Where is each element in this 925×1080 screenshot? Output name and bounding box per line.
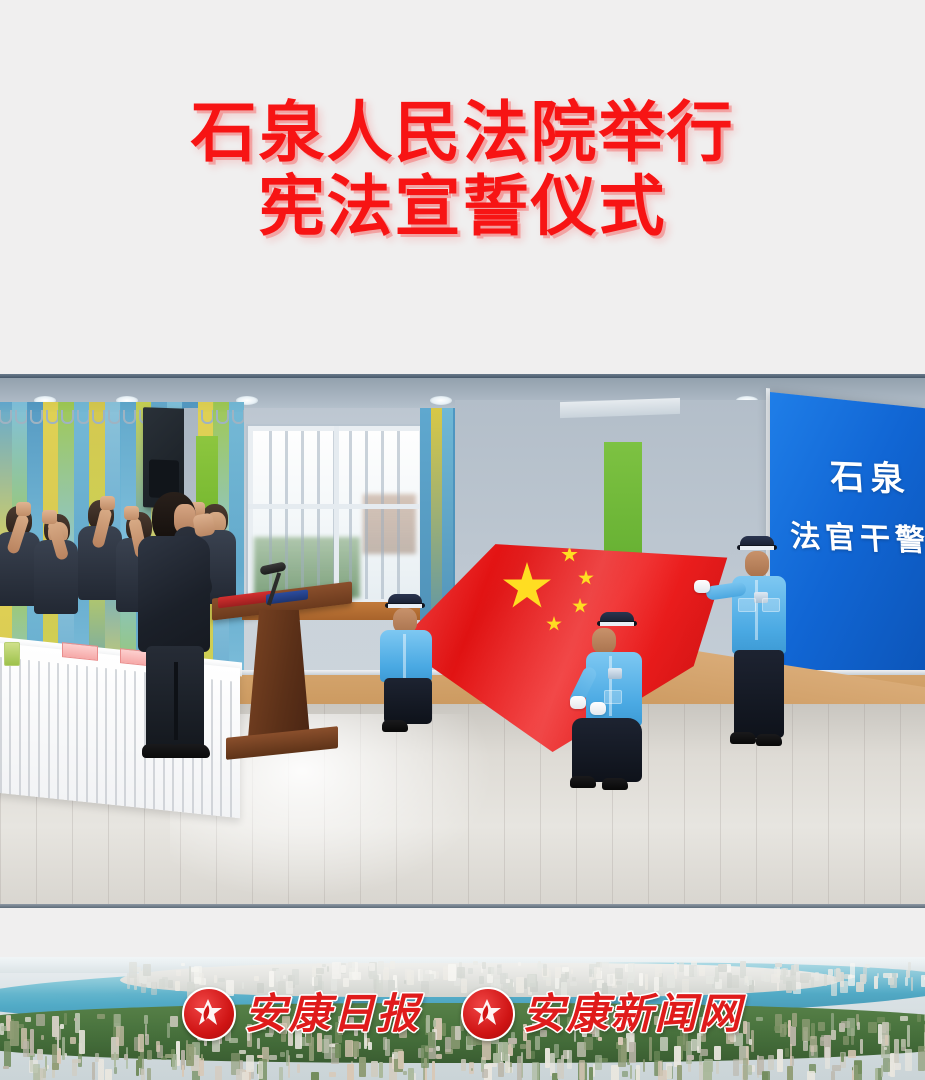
- photo-top-edge: [0, 374, 925, 378]
- ankang-bird-emblem-icon: [182, 987, 236, 1041]
- logo-ankang-news[interactable]: 安康新闻网: [461, 987, 743, 1041]
- podium-base: [226, 726, 338, 760]
- title-line-1: 石泉人民法院举行: [0, 96, 925, 170]
- ceremony-photo: 石泉 法官干警: [0, 374, 925, 908]
- backdrop-text-line-1: 石泉: [828, 449, 911, 501]
- photo-bottom-edge: [0, 904, 925, 908]
- logo-label: 安康新闻网: [523, 991, 743, 1037]
- oath-taker-leg-gap: [174, 662, 178, 740]
- podium: [212, 590, 352, 768]
- window-mullion-vertical: [334, 426, 339, 604]
- oath-taker-suit: [138, 536, 210, 652]
- footer-banner: 安康日报 安康新闻网: [0, 957, 925, 1080]
- poster-page: 石泉人民法院举行 宪法宣誓仪式: [0, 0, 925, 1080]
- ceiling-light-icon: [430, 396, 452, 405]
- logo-ankang-daily[interactable]: 安康日报: [182, 987, 420, 1041]
- ankang-bird-emblem-icon: [461, 987, 515, 1041]
- page-title: 石泉人民法院举行 宪法宣誓仪式: [0, 96, 925, 244]
- title-line-2: 宪法宣誓仪式: [0, 170, 925, 244]
- oath-taker-fist: [192, 512, 216, 537]
- oath-taker-shoe: [172, 744, 210, 758]
- publisher-logos: 安康日报 安康新闻网: [0, 975, 925, 1053]
- oath-taker: [128, 492, 224, 760]
- backdrop-text-line-2: 法官干警: [789, 511, 925, 560]
- podium-column: [248, 610, 310, 738]
- logo-label: 安康日报: [244, 991, 420, 1037]
- tea-cup: [4, 642, 20, 666]
- window-mullion-horizontal: [248, 504, 424, 509]
